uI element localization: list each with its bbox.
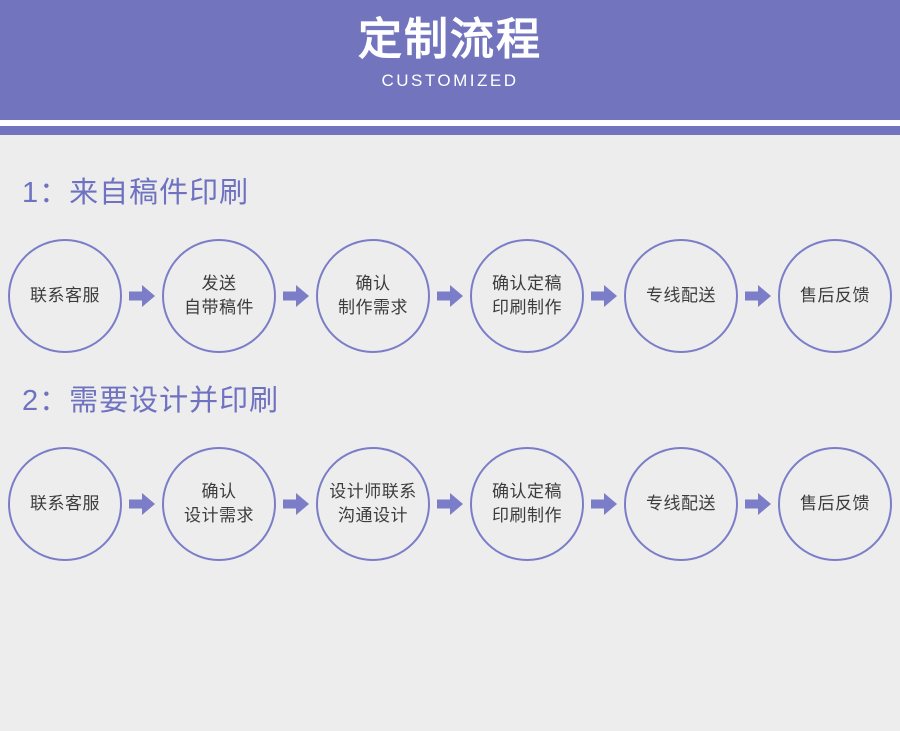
flow-step-node[interactable]: 售后反馈 bbox=[778, 447, 892, 561]
flow-row-2: 联系客服确认设计需求设计师联系沟通设计确认定稿印刷制作专线配送售后反馈 bbox=[0, 447, 900, 561]
flow-row-1: 联系客服发送自带稿件确认制作需求确认定稿印刷制作专线配送售后反馈 bbox=[0, 239, 900, 353]
flow-step-label: 售后反馈 bbox=[800, 284, 870, 308]
flow-step-node[interactable]: 设计师联系沟通设计 bbox=[316, 447, 430, 561]
flow-step-label: 沟通设计 bbox=[338, 504, 408, 528]
flow-step-label: 确认定稿 bbox=[492, 272, 562, 296]
flow-step-label: 联系客服 bbox=[30, 284, 100, 308]
page-title: 定制流程 bbox=[358, 12, 542, 68]
arrow-right-icon bbox=[282, 491, 310, 517]
flow-step-label: 专线配送 bbox=[646, 492, 716, 516]
flow-step-node[interactable]: 发送自带稿件 bbox=[162, 239, 276, 353]
arrow-right-icon bbox=[436, 283, 464, 309]
arrow-right-icon bbox=[744, 283, 772, 309]
section-2-heading: 2：需要设计并印刷 bbox=[22, 381, 900, 421]
arrow-right-icon bbox=[590, 283, 618, 309]
flow-step-node[interactable]: 联系客服 bbox=[8, 239, 122, 353]
flow-content: 1：来自稿件印刷 联系客服发送自带稿件确认制作需求确认定稿印刷制作专线配送售后反… bbox=[0, 135, 900, 561]
arrow-right-icon bbox=[128, 283, 156, 309]
flow-step-node[interactable]: 确认定稿印刷制作 bbox=[470, 239, 584, 353]
flow-step-label: 设计师联系 bbox=[329, 480, 417, 504]
flow-step-label: 印刷制作 bbox=[492, 296, 562, 320]
flow-step-node[interactable]: 售后反馈 bbox=[778, 239, 892, 353]
flow-step-label: 制作需求 bbox=[338, 296, 408, 320]
banner-accent-rule bbox=[0, 126, 900, 135]
flow-step-node[interactable]: 专线配送 bbox=[624, 447, 738, 561]
flow-step-label: 设计需求 bbox=[184, 504, 254, 528]
flow-step-node[interactable]: 联系客服 bbox=[8, 447, 122, 561]
flow-step-node[interactable]: 确认制作需求 bbox=[316, 239, 430, 353]
section-1-heading: 1：来自稿件印刷 bbox=[22, 173, 900, 213]
flow-step-label: 确认 bbox=[356, 272, 391, 296]
flow-step-label: 发送 bbox=[202, 272, 237, 296]
flow-step-node[interactable]: 确认定稿印刷制作 bbox=[470, 447, 584, 561]
page-banner: 定制流程 CUSTOMIZED bbox=[0, 0, 900, 120]
flow-step-label: 售后反馈 bbox=[800, 492, 870, 516]
flow-section-1: 1：来自稿件印刷 联系客服发送自带稿件确认制作需求确认定稿印刷制作专线配送售后反… bbox=[0, 135, 900, 353]
flow-step-label: 联系客服 bbox=[30, 492, 100, 516]
flow-step-label: 印刷制作 bbox=[492, 504, 562, 528]
arrow-right-icon bbox=[128, 491, 156, 517]
page-subtitle: CUSTOMIZED bbox=[381, 70, 518, 92]
flow-step-node[interactable]: 确认设计需求 bbox=[162, 447, 276, 561]
flow-step-label: 确认 bbox=[202, 480, 237, 504]
arrow-right-icon bbox=[436, 491, 464, 517]
flow-step-label: 专线配送 bbox=[646, 284, 716, 308]
flow-step-label: 确认定稿 bbox=[492, 480, 562, 504]
arrow-right-icon bbox=[590, 491, 618, 517]
arrow-right-icon bbox=[744, 491, 772, 517]
arrow-right-icon bbox=[282, 283, 310, 309]
flow-step-node[interactable]: 专线配送 bbox=[624, 239, 738, 353]
flow-step-label: 自带稿件 bbox=[184, 296, 254, 320]
flow-section-2: 2：需要设计并印刷 联系客服确认设计需求设计师联系沟通设计确认定稿印刷制作专线配… bbox=[0, 353, 900, 561]
